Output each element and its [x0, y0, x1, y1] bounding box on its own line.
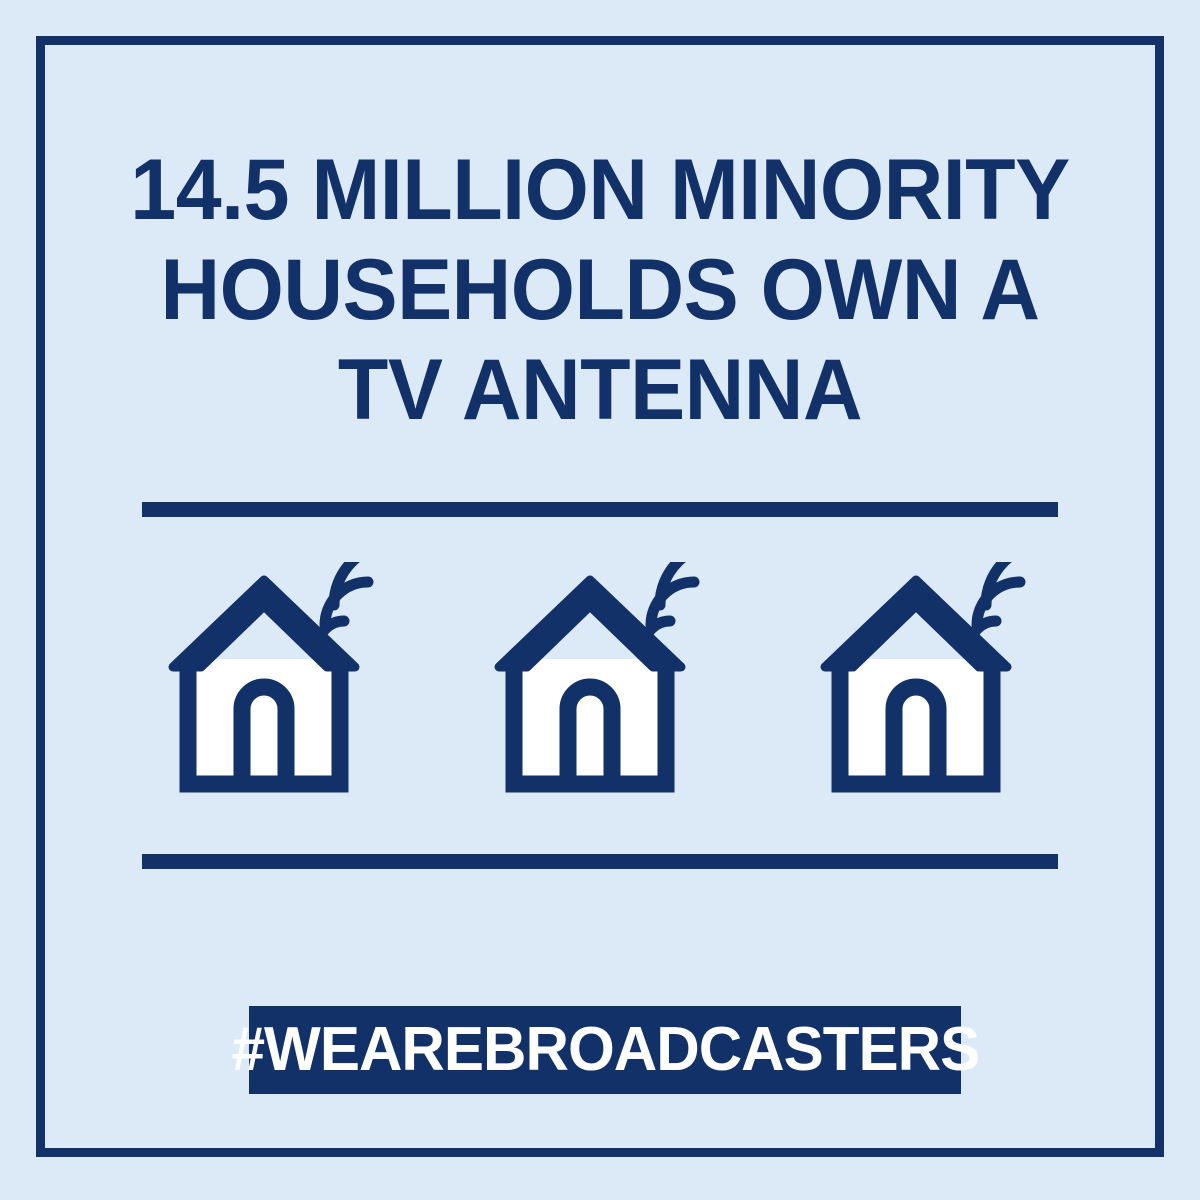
house-with-antenna-signal-icon	[481, 562, 719, 802]
horizontal-rule-top	[142, 502, 1058, 517]
house-with-antenna-signal-icon	[807, 562, 1045, 802]
horizontal-rule-bottom	[142, 854, 1058, 869]
hashtag-text: #WEAREBROADCASTERS	[231, 1019, 979, 1081]
house-icon-row	[155, 562, 1045, 812]
page-title: 14.5 MILLION MINORITY HOUSEHOLDS OWN A T…	[120, 140, 1080, 440]
house-with-antenna-signal-icon	[155, 562, 393, 802]
house-with-antenna-1	[155, 562, 393, 802]
house-with-antenna-3	[807, 562, 1045, 802]
house-with-antenna-2	[481, 562, 719, 802]
hashtag-banner: #WEAREBROADCASTERS	[249, 1006, 961, 1094]
poster-canvas: 14.5 MILLION MINORITY HOUSEHOLDS OWN A T…	[0, 0, 1200, 1200]
